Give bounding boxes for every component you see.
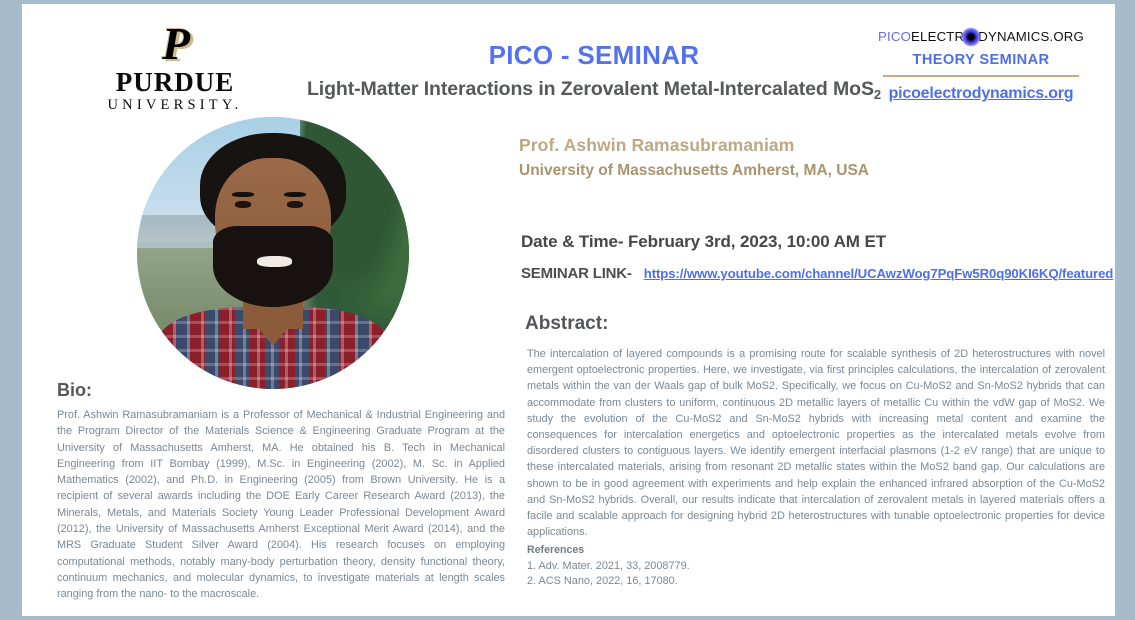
seminar-link-row: SEMINAR LINK- https://www.youtube.com/ch…: [521, 265, 1113, 282]
abstract-text: The intercalation of layered compounds i…: [527, 346, 1105, 540]
speaker-name: Prof. Ashwin Ramasubramaniam: [519, 135, 794, 156]
reference-item: 1. Adv. Mater. 2021, 33, 2008779.: [527, 559, 1105, 574]
speaker-affiliation: University of Massachusetts Amherst, MA,…: [519, 162, 869, 180]
purdue-motion-p-icon: P: [143, 22, 207, 66]
reference-item: 2. ACS Nano, 2022, 16, 17080.: [527, 574, 1105, 589]
seminar-link-label: SEMINAR LINK-: [521, 265, 632, 282]
photo-eyebrow-right: [284, 192, 306, 197]
photo-eyebrow-left: [232, 192, 254, 197]
seminar-subtitle: Light-Matter Interactions in Zerovalent …: [224, 78, 964, 102]
abstract-section: The intercalation of layered compounds i…: [527, 346, 1105, 589]
photo-beard: [213, 226, 333, 308]
pico-logo-part2: ELECTR: [911, 29, 964, 44]
page-title: PICO - SEMINAR: [274, 40, 914, 71]
divider: [883, 75, 1079, 77]
frame-bottom-band: [22, 616, 1115, 620]
seminar-link-url[interactable]: https://www.youtube.com/channel/UCAwzWog…: [644, 266, 1114, 281]
bio-heading: Bio:: [57, 380, 92, 401]
bio-text: Prof. Ashwin Ramasubramaniam is a Profes…: [57, 407, 505, 603]
seminar-poster: P PURDUE UNIVERSITY. PICO - SEMINAR Ligh…: [0, 0, 1135, 620]
picoelectrodynamics-logo: PICOELECTRODYNAMICS.ORG: [869, 30, 1093, 43]
seminar-subtitle-text: Light-Matter Interactions in Zerovalent …: [307, 78, 874, 100]
frame-right-band: [1115, 0, 1135, 620]
frame-left-band: [0, 0, 22, 620]
theory-seminar-label: THEORY SEMINAR: [869, 52, 1093, 68]
references-heading: References: [527, 542, 1105, 558]
photo-smile: [257, 256, 292, 267]
poster-sheet: P PURDUE UNIVERSITY. PICO - SEMINAR Ligh…: [24, 4, 1115, 616]
pico-logo-part1: PICO: [878, 29, 911, 44]
abstract-heading: Abstract:: [525, 313, 608, 335]
picoelectrodynamics-website-link[interactable]: picoelectrodynamics.org: [869, 85, 1093, 103]
event-datetime: Date & Time- February 3rd, 2023, 10:00 A…: [521, 232, 886, 252]
purdue-p-glyph: P: [162, 18, 188, 69]
glowing-orb-icon: O: [964, 30, 978, 43]
pico-logo-part3: DYNAMICS.ORG: [978, 29, 1084, 44]
photo-eye-right: [287, 201, 303, 208]
pico-branding-block: PICOELECTRODYNAMICS.ORG THEORY SEMINAR p…: [869, 30, 1093, 103]
speaker-avatar: [137, 117, 409, 389]
